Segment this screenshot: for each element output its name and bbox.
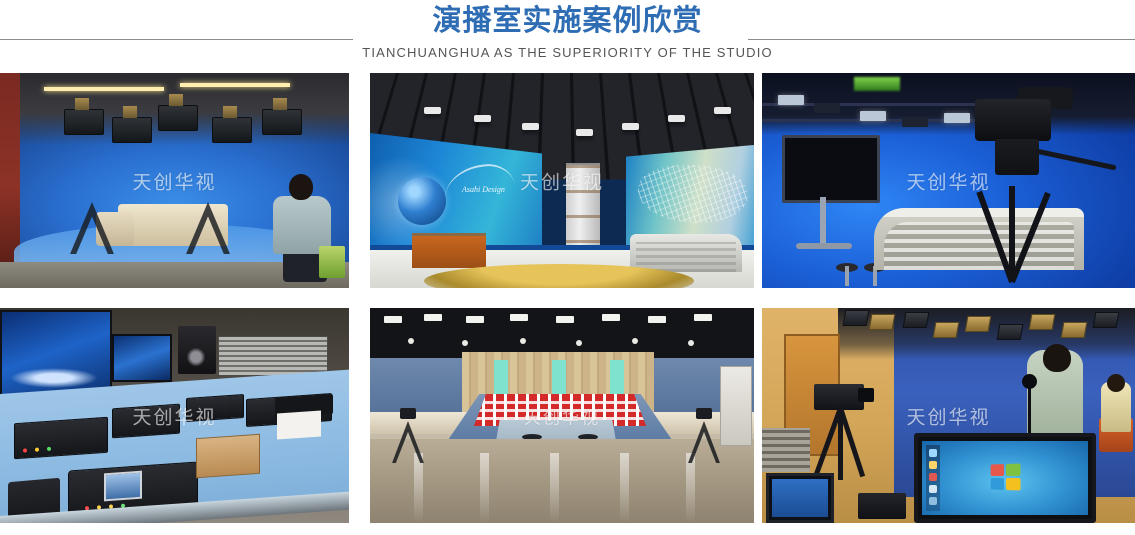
gallery-item-studio-cg-globe-backdrop[interactable]: Asahi Design 天创华视 — [370, 73, 754, 288]
studio-light — [1061, 322, 1088, 338]
side-wall — [0, 73, 20, 263]
studio-light — [212, 117, 252, 143]
ceiling-downlight — [576, 340, 582, 346]
photo-studio-cg-globe: Asahi Design 天创华视 — [370, 73, 754, 288]
floor-reflection — [480, 453, 489, 523]
interview-desk — [412, 233, 486, 268]
photo-studio-recording: 天创华视 — [762, 308, 1135, 523]
studio-light — [965, 316, 992, 332]
seat-row-divider — [474, 417, 646, 420]
taskbar-icon[interactable] — [929, 497, 937, 505]
windows-logo-icon — [991, 463, 1021, 490]
ceiling-spotlight — [576, 129, 593, 136]
photo-studio-blue-camera: 天创华视 — [762, 73, 1135, 288]
studio-light — [933, 322, 960, 338]
ceiling-downlight — [462, 340, 468, 346]
paper-sheet — [277, 410, 321, 439]
studio-light — [869, 314, 896, 330]
studio-light — [944, 113, 970, 123]
monitor-base — [796, 243, 852, 249]
studio-speaker — [178, 326, 216, 374]
studio-light — [1029, 314, 1056, 330]
backdrop-accent — [552, 360, 566, 394]
camera-pan-arm — [1035, 149, 1116, 171]
studio-light — [1093, 312, 1120, 328]
router-unit — [112, 404, 180, 439]
camera-body — [975, 99, 1051, 141]
gallery-item-studio-audience-red-seating[interactable]: 天创华视 — [370, 308, 754, 523]
backdrop-logo-text: Asahi Design — [462, 185, 505, 194]
backdrop-accent — [610, 360, 624, 394]
camera-tripod — [812, 408, 868, 482]
photo-control-room: 天创华视 — [0, 308, 349, 523]
gallery-item-studio-blue-cyc-lighting-grid[interactable]: 天创华视 — [0, 73, 349, 288]
studio-light — [262, 109, 302, 135]
globe-graphic — [398, 177, 446, 225]
gallery-item-studio-blue-monitor-camera[interactable]: 天创华视 — [762, 73, 1135, 288]
photo-studio-blue-cyc: 天创华视 — [0, 73, 349, 288]
header-divider-left — [0, 39, 353, 40]
ceiling-light-panel — [510, 314, 528, 321]
studio-light — [903, 312, 930, 328]
floor-reflection — [550, 453, 559, 523]
case-gallery: 天创华视 Asahi Design 天创华视 — [0, 70, 1135, 530]
windows-desktop — [922, 441, 1088, 515]
ceiling-tube — [180, 83, 290, 87]
person-head — [1107, 374, 1125, 392]
ceiling-downlight — [688, 340, 694, 346]
equipment-case — [858, 493, 906, 519]
person-head — [289, 174, 313, 200]
header-divider-right — [748, 39, 1135, 40]
studio-light — [843, 310, 870, 326]
green-studio-light — [854, 77, 900, 91]
ceiling-spotlight — [714, 107, 731, 114]
studio-light — [64, 109, 104, 135]
ceiling-spotlight — [668, 115, 685, 122]
status-led — [23, 448, 27, 452]
taskbar-icon[interactable] — [929, 449, 937, 457]
page-header: 演播室实施案例欣赏 TIANCHUANGHUA AS THE SUPERIORI… — [0, 0, 1135, 70]
ceiling-light-panel — [466, 316, 484, 323]
studio-light — [158, 105, 198, 131]
studio-door — [720, 366, 752, 446]
camera-head — [995, 139, 1039, 175]
camera-tripod — [961, 178, 1065, 282]
ceiling-light-panel — [384, 316, 402, 323]
small-monitor — [766, 473, 834, 523]
ceiling-tube — [44, 87, 164, 91]
tripod-leg — [1009, 192, 1051, 283]
windows-logo-quadrant — [1006, 463, 1021, 476]
floor-reflection — [686, 453, 695, 523]
camera-head — [400, 408, 416, 419]
ceiling-light-panel — [694, 314, 712, 321]
ceiling-downlight — [632, 338, 638, 344]
ceiling-light-panel — [648, 316, 666, 323]
ceiling-spotlight — [424, 107, 441, 114]
studio-light — [814, 103, 840, 113]
seat-row-divider — [474, 401, 646, 404]
ceiling-light-panel — [602, 314, 620, 321]
photo-studio-audience: 天创华视 — [370, 308, 754, 523]
seat-row-divider — [474, 409, 646, 412]
monitor-unit — [14, 417, 108, 460]
studio-light — [778, 95, 804, 105]
flat-screen-monitor — [782, 135, 880, 203]
ceiling-light-panel — [556, 316, 574, 323]
windows-logo-quadrant — [991, 464, 1004, 476]
studio-light — [112, 117, 152, 143]
ceiling-spotlight — [622, 123, 639, 130]
ceiling-downlight — [520, 338, 526, 344]
page-subtitle: TIANCHUANGHUA AS THE SUPERIORITY OF THE … — [0, 44, 1135, 61]
stored-panels — [762, 428, 810, 472]
taskbar[interactable] — [926, 445, 940, 511]
page-title: 演播室实施案例欣赏 — [0, 2, 1135, 38]
cardboard-box — [196, 434, 260, 478]
floor-reflection — [620, 453, 629, 523]
ceiling-light-panel — [424, 314, 442, 321]
gallery-item-studio-recording-win7-monitor[interactable]: 天创华视 — [762, 308, 1135, 523]
ceiling-downlight — [408, 338, 414, 344]
taskbar-icon[interactable] — [929, 473, 937, 481]
windows-logo-quadrant — [991, 477, 1004, 489]
backdrop-accent — [494, 360, 508, 394]
gallery-item-control-room-console[interactable]: 天创华视 — [0, 308, 349, 523]
studio-light — [902, 117, 928, 127]
taskbar-icon[interactable] — [929, 485, 937, 493]
taskbar-icon[interactable] — [929, 461, 937, 469]
status-led — [47, 447, 51, 451]
carried-bag — [319, 246, 345, 278]
ceiling-spotlight — [474, 115, 491, 122]
ceiling-spotlight — [522, 123, 539, 130]
preview-monitor — [112, 334, 172, 382]
preview-monitor — [914, 433, 1096, 523]
studio-light — [860, 111, 886, 121]
equipment-rack — [218, 336, 328, 376]
camera-lens — [858, 388, 874, 402]
status-led — [35, 448, 39, 452]
floor-reflection — [414, 453, 423, 523]
patch-unit — [186, 394, 244, 422]
camera-head — [696, 408, 712, 419]
monitor-stand — [820, 197, 826, 245]
person-head — [1043, 344, 1071, 372]
anchor-desk — [630, 234, 742, 272]
stool-leg — [845, 266, 849, 286]
switcher-lcd — [104, 471, 142, 502]
studio-light — [997, 324, 1024, 340]
watermark: 天创华视 — [132, 167, 216, 194]
windows-logo-quadrant — [1006, 478, 1021, 491]
floor — [370, 439, 754, 523]
camera-body — [814, 384, 864, 410]
